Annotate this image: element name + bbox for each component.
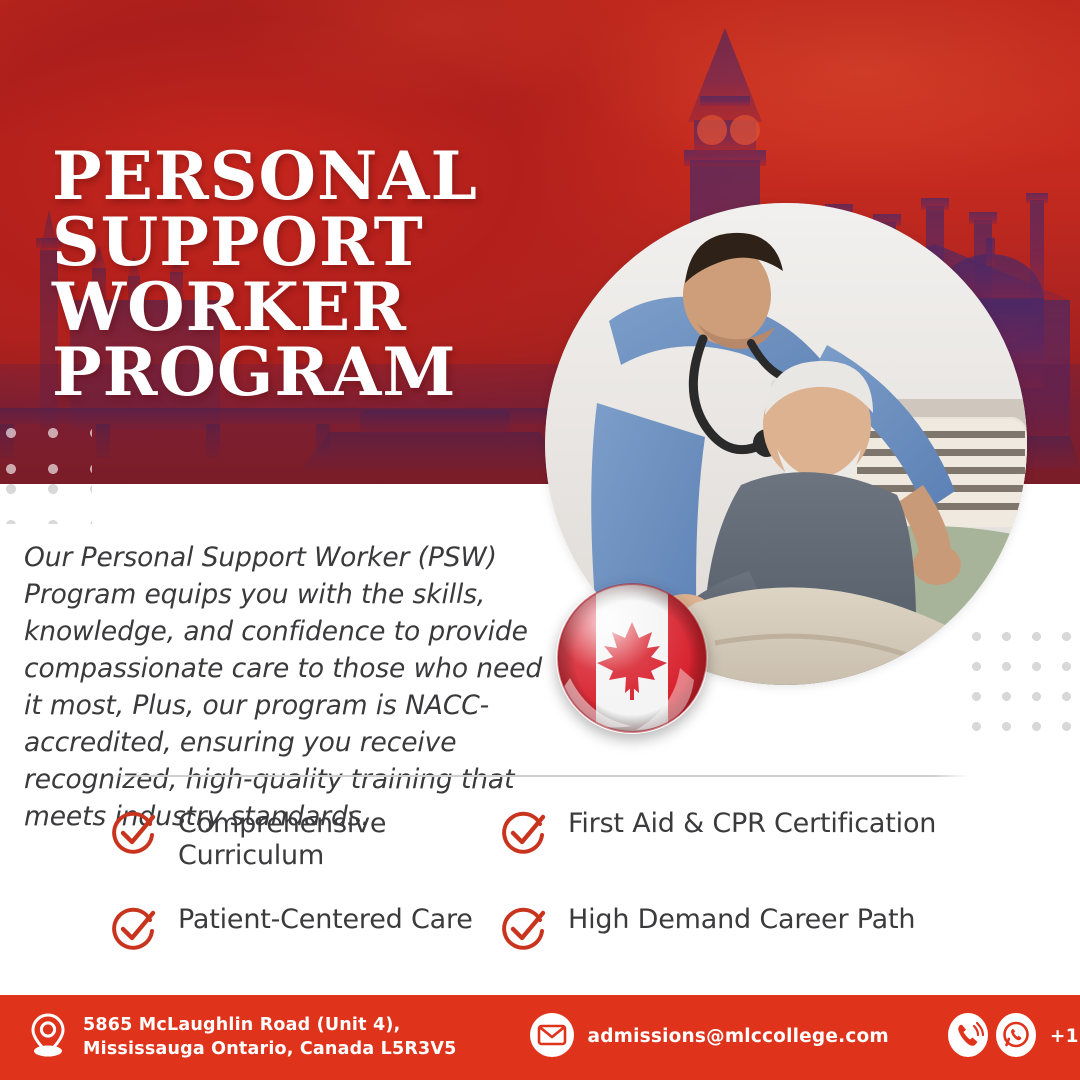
footer-email[interactable]: admissions@mlccollege.com [529, 1012, 889, 1063]
canada-flag-icon [556, 582, 708, 734]
page-title: Personal Support Worker Program [52, 144, 572, 405]
footer-address-text: 5865 McLaughlin Road (Unit 4), Mississau… [83, 1014, 457, 1060]
contact-footer: 5865 McLaughlin Road (Unit 4), Mississau… [0, 995, 1080, 1080]
poster-canvas: Personal Support Worker Program [0, 0, 1080, 1080]
phone-icon-group [947, 1012, 1037, 1063]
section-divider [106, 775, 968, 777]
title-line-2: Support [52, 210, 572, 275]
address-line-1: 5865 McLaughlin Road (Unit 4), [83, 1015, 400, 1035]
title-line-4: Program [52, 340, 572, 405]
envelope-icon [529, 1012, 575, 1063]
location-pin-icon [26, 1012, 70, 1063]
check-circle-icon [500, 904, 548, 952]
feature-item: First Aid & CPR Certification [500, 806, 990, 902]
intro-paragraph: Our Personal Support Worker (PSW) Progra… [24, 539, 544, 836]
feature-label: High Demand Career Path [568, 902, 915, 936]
footer-phone[interactable]: +1 905 507 8200 [947, 1012, 1080, 1063]
feature-label: First Aid & CPR Certification [568, 806, 936, 840]
canada-flag-badge [556, 582, 708, 734]
footer-email-text: admissions@mlccollege.com [588, 1025, 889, 1049]
whatsapp-icon [995, 1012, 1037, 1063]
dot-grid-right [972, 632, 1080, 744]
feature-label: Patient-Centered Care [178, 902, 473, 936]
feature-label: Comprehensive Curriculum [178, 806, 408, 871]
title-line-1: Personal [52, 144, 572, 209]
footer-address[interactable]: 5865 McLaughlin Road (Unit 4), Mississau… [26, 1012, 457, 1063]
title-line-3: Worker [52, 275, 572, 340]
dot-grid-left-on-white [6, 484, 92, 524]
phone-icon [947, 1012, 989, 1063]
feature-list: Comprehensive Curriculum First Aid & CPR… [110, 806, 990, 998]
check-circle-icon [500, 808, 548, 856]
feature-item: Comprehensive Curriculum [110, 806, 500, 902]
feature-item: High Demand Career Path [500, 902, 990, 998]
check-circle-icon [110, 904, 158, 952]
check-circle-icon [110, 808, 158, 856]
address-line-2: Mississauga Ontario, Canada L5R3V5 [83, 1038, 457, 1061]
feature-item: Patient-Centered Care [110, 902, 500, 998]
footer-phone-text: +1 905 507 8200 [1050, 1025, 1080, 1049]
